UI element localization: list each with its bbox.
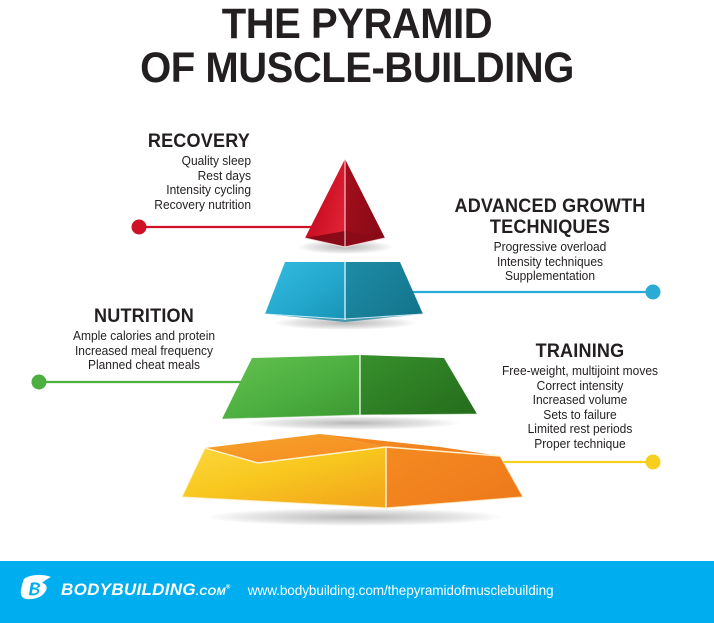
callout-advanced-heading-line-1: ADVANCED GROWTH — [454, 196, 645, 217]
list-item: Increased meal frequency — [42, 344, 246, 359]
list-item: Intensity techniques — [430, 255, 670, 270]
pyramid-tier-training — [182, 434, 523, 526]
callout-advanced-heading-line-2: TECHNIQUES — [490, 217, 610, 238]
list-item: Recovery nutrition — [59, 198, 251, 213]
list-item: Limited rest periods — [484, 422, 676, 437]
connector-dot-nutrition — [32, 375, 47, 390]
callout-nutrition: NUTRITION Ample calories and protein Inc… — [38, 306, 250, 373]
callout-nutrition-heading: NUTRITION — [43, 306, 244, 327]
pyramid-tier-nutrition — [222, 355, 477, 430]
list-item: Planned cheat meals — [42, 358, 246, 373]
infographic-root: THE PYRAMID OF MUSCLE-BUILDING — [0, 0, 714, 623]
list-item: Correct intensity — [484, 379, 676, 394]
connector-dot-advanced — [646, 285, 661, 300]
pyramid-tier-advanced — [265, 262, 423, 330]
callout-recovery-list: Quality sleep Rest days Intensity cyclin… — [55, 154, 255, 212]
callout-advanced-list: Progressive overload Intensity technique… — [425, 240, 675, 284]
connector-advanced — [380, 285, 661, 300]
connector-nutrition — [32, 375, 253, 390]
list-item: Supplementation — [430, 269, 670, 284]
connector-recovery — [132, 220, 331, 235]
list-item: Proper technique — [484, 437, 676, 452]
list-item: Sets to failure — [484, 408, 676, 423]
callout-nutrition-list: Ample calories and protein Increased mea… — [38, 329, 250, 373]
callout-recovery: RECOVERY Quality sleep Rest days Intensi… — [55, 131, 255, 212]
pyramid-tier-recovery — [297, 159, 393, 254]
connector-dot-recovery — [132, 220, 147, 235]
footer-url[interactable]: www.bodybuilding.com/thepyramidofmuscleb… — [11, 582, 704, 598]
callout-advanced-growth-techniques: ADVANCED GROWTH TECHNIQUES Progressive o… — [425, 196, 675, 284]
list-item: Ample calories and protein — [42, 329, 246, 344]
connector-training — [492, 455, 661, 470]
connector-dot-training — [646, 455, 661, 470]
callout-recovery-heading: RECOVERY — [60, 131, 250, 152]
callout-advanced-heading: ADVANCED GROWTH TECHNIQUES — [431, 196, 669, 238]
callout-training-list: Free-weight, multijoint moves Correct in… — [480, 364, 680, 451]
list-item: Rest days — [59, 169, 251, 184]
footer-bar: BODYBUILDING.COM® www.bodybuilding.com/t… — [0, 561, 714, 623]
list-item: Intensity cycling — [59, 183, 251, 198]
list-item: Free-weight, multijoint moves — [484, 364, 676, 379]
callout-training: TRAINING Free-weight, multijoint moves C… — [480, 341, 680, 451]
list-item: Quality sleep — [59, 154, 251, 169]
list-item: Progressive overload — [430, 240, 670, 255]
callout-training-heading: TRAINING — [485, 341, 675, 362]
list-item: Increased volume — [484, 393, 676, 408]
